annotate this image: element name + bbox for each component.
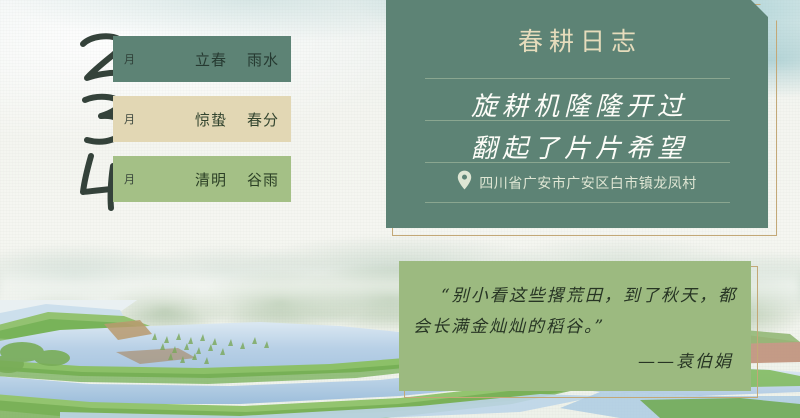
- log-location-text: 四川省广安市广安区白市镇龙凤村: [479, 173, 697, 193]
- solar-terms-calendar: 月 立春 雨水 月 惊蛰 春分 月 清明 谷雨: [113, 36, 291, 202]
- solar-term: 谷雨: [247, 169, 279, 190]
- calendar-terms: 惊蛰 春分: [195, 109, 279, 130]
- calendar-row-month-4[interactable]: 月 清明 谷雨: [113, 156, 291, 202]
- quote-card: “别小看这些撂荒田，到了秋天，都会长满金灿灿的稻谷。” ——袁伯娟: [399, 261, 751, 391]
- quote-text: “别小看这些撂荒田，到了秋天，都会长满金灿灿的稻谷。”: [413, 281, 737, 343]
- log-line-2: 翻起了片片希望: [386, 128, 768, 165]
- calendar-row-month-2[interactable]: 月 立春 雨水: [113, 36, 291, 82]
- solar-term: 立春: [195, 49, 227, 70]
- spring-plowing-log-card: 春耕日志 旋耕机隆隆开过 翻起了片片希望 四川省广安市广安区白市镇龙凤村: [386, 0, 768, 228]
- poster-root: 月 立春 雨水 月 惊蛰 春分 月 清明 谷雨 春耕日志: [0, 0, 800, 418]
- solar-term: 清明: [195, 169, 227, 190]
- calendar-terms: 立春 雨水: [195, 49, 279, 70]
- calendar-month-unit: 月: [124, 111, 135, 127]
- solar-term: 春分: [247, 109, 279, 130]
- log-line-1: 旋耕机隆隆开过: [386, 86, 768, 123]
- ruled-line: [425, 202, 730, 203]
- calendar-month-unit: 月: [124, 171, 135, 187]
- log-card-title: 春耕日志: [386, 22, 768, 58]
- calendar-terms: 清明 谷雨: [195, 169, 279, 190]
- calendar-row-month-3[interactable]: 月 惊蛰 春分: [113, 96, 291, 142]
- ruled-line: [425, 78, 730, 79]
- log-location: 四川省广安市广安区白市镇龙凤村: [386, 170, 768, 195]
- solar-term: 惊蛰: [195, 109, 227, 130]
- calendar-month-unit: 月: [124, 51, 135, 67]
- quote-attribution: ——袁伯娟: [638, 347, 733, 372]
- solar-term: 雨水: [247, 49, 279, 70]
- map-pin-icon: [457, 170, 472, 195]
